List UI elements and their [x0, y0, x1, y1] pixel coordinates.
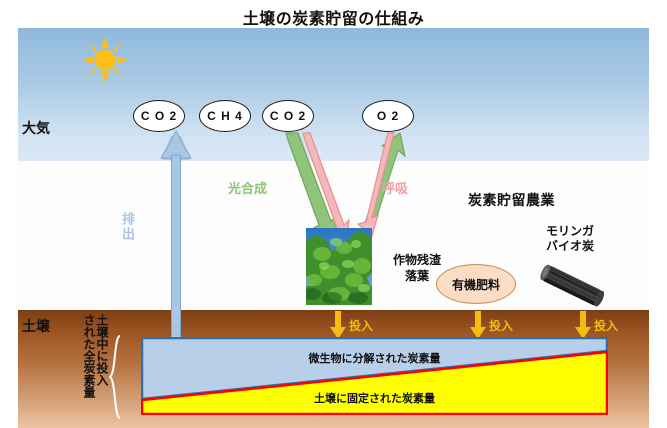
biochar-label-line2: バイオ炭 — [530, 239, 610, 254]
input-arrow-residue: 投入 — [330, 310, 373, 340]
biochar-rod-icon — [536, 262, 608, 310]
total-carbon-brace — [109, 335, 121, 419]
total-carbon-label: 土壌中に投入 された全炭素量 — [62, 314, 108, 426]
respiration-label: 呼吸 — [382, 178, 408, 197]
carbon-farming-title: 炭素貯留農業 — [468, 190, 555, 210]
crop-residue-line1: 作物残渣 — [376, 252, 458, 268]
fixed-carbon-label: 土壌に固定された炭素量 — [141, 390, 608, 406]
gas-bubble-ch4: C H 4 — [199, 100, 251, 132]
sun-icon — [82, 37, 128, 83]
plant-photo — [306, 228, 372, 305]
gas-bubble-co2-emission: C O 2 — [133, 100, 185, 132]
decomposed-carbon-label: 微生物に分解された炭素量 — [141, 350, 608, 366]
diagram-canvas: 土壌の炭素貯留の仕組み 大気 土壌 C O 2 C H 4 C O 2 O 2 — [0, 0, 667, 428]
organic-fertilizer-badge: 有機肥料 — [436, 264, 516, 304]
emission-label: 排出 — [118, 212, 137, 242]
biochar-label: モリンガ バイオ炭 — [530, 224, 610, 254]
down-arrow-icon — [330, 311, 346, 339]
soil-label: 土壌 — [22, 316, 50, 336]
down-arrow-icon — [470, 311, 486, 339]
biochar-label-line1: モリンガ — [530, 224, 610, 239]
gas-bubble-o2: O 2 — [362, 100, 414, 132]
input-arrow-biochar-label: 投入 — [594, 317, 618, 334]
page-title: 土壌の炭素貯留の仕組み — [0, 5, 667, 29]
down-arrow-icon — [575, 311, 591, 339]
input-arrow-fertilizer: 投入 — [470, 310, 513, 340]
total-carbon-label-col2: された全炭素量 — [83, 314, 95, 426]
photosynthesis-label: 光合成 — [228, 178, 267, 197]
input-arrow-residue-label: 投入 — [349, 317, 373, 334]
atmosphere-label: 大気 — [22, 118, 50, 138]
input-arrow-biochar: 投入 — [575, 310, 618, 340]
input-arrow-fertilizer-label: 投入 — [489, 317, 513, 334]
total-carbon-label-col1: 土壌中に投入 — [96, 314, 108, 426]
gas-bubble-co2-photosynthesis: C O 2 — [262, 100, 314, 132]
carbon-stock-chart: 微生物に分解された炭素量 土壌に固定された炭素量 — [141, 337, 608, 415]
